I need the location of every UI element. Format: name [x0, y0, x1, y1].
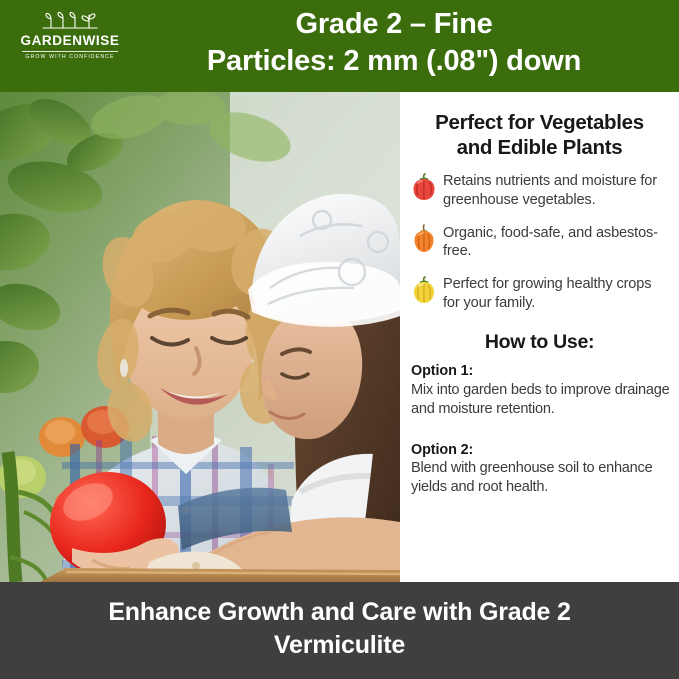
option-2-label: Option 2:	[411, 441, 673, 460]
option-1-body: Mix into garden beds to improve drainage…	[411, 381, 673, 419]
yellow-bell-pepper-icon	[411, 275, 437, 305]
logo-divider	[22, 51, 118, 52]
page-title: Grade 2 – Fine Particles: 2 mm (.08") do…	[124, 6, 664, 80]
option-1: Option 1: Mix into garden beds to improv…	[411, 362, 673, 419]
brand-logo: GARDENWISE GROW WITH CONFIDENCE	[16, 10, 124, 60]
option-2-body: Blend with greenhouse soil to enhance yi…	[411, 459, 673, 497]
benefit-text: Retains nutrients and moisture for green…	[443, 172, 671, 210]
brand-name: GARDENWISE	[16, 34, 124, 48]
seedling-sprouts-icon	[39, 10, 101, 32]
footer-banner: Enhance Growth and Care with Grade 2 Ver…	[0, 582, 679, 679]
benefit-text: Perfect for growing healthy crops for yo…	[443, 275, 671, 313]
brand-tagline: GROW WITH CONFIDENCE	[16, 55, 124, 60]
orange-bell-pepper-icon	[411, 224, 437, 254]
list-item: Perfect for growing healthy crops for yo…	[411, 275, 671, 313]
header-title-line1: Grade 2 – Fine	[295, 8, 492, 40]
benefits-panel: Perfect for Vegetables and Edible Plants	[400, 92, 679, 582]
header-banner: GARDENWISE GROW WITH CONFIDENCE Grade 2 …	[0, 0, 679, 92]
red-bell-pepper-icon	[411, 172, 437, 202]
benefits-heading-line1: Perfect for Vegetables	[435, 111, 644, 134]
list-item: Organic, food-safe, and asbestos-free.	[411, 224, 671, 262]
footer-line2: Vermiculite	[30, 629, 649, 662]
footer-tagline: Enhance Growth and Care with Grade 2 Ver…	[30, 596, 649, 662]
list-item: Retains nutrients and moisture for green…	[411, 172, 671, 210]
product-infographic: GARDENWISE GROW WITH CONFIDENCE Grade 2 …	[0, 0, 679, 679]
benefits-list: Retains nutrients and moisture for green…	[400, 172, 679, 313]
how-to-use-heading: How to Use:	[406, 331, 673, 354]
header-title-line2: Particles: 2 mm (.08") down	[124, 43, 664, 80]
greenhouse-gardening-illustration	[0, 92, 400, 582]
benefits-heading: Perfect for Vegetables and Edible Plants	[406, 110, 673, 160]
footer-line1: Enhance Growth and Care with Grade 2	[108, 598, 570, 626]
benefit-text: Organic, food-safe, and asbestos-free.	[443, 224, 671, 262]
benefits-heading-line2: and Edible Plants	[406, 135, 673, 160]
option-1-label: Option 1:	[411, 362, 673, 381]
product-lifestyle-photo	[0, 92, 400, 582]
option-2: Option 2: Blend with greenhouse soil to …	[411, 441, 673, 498]
